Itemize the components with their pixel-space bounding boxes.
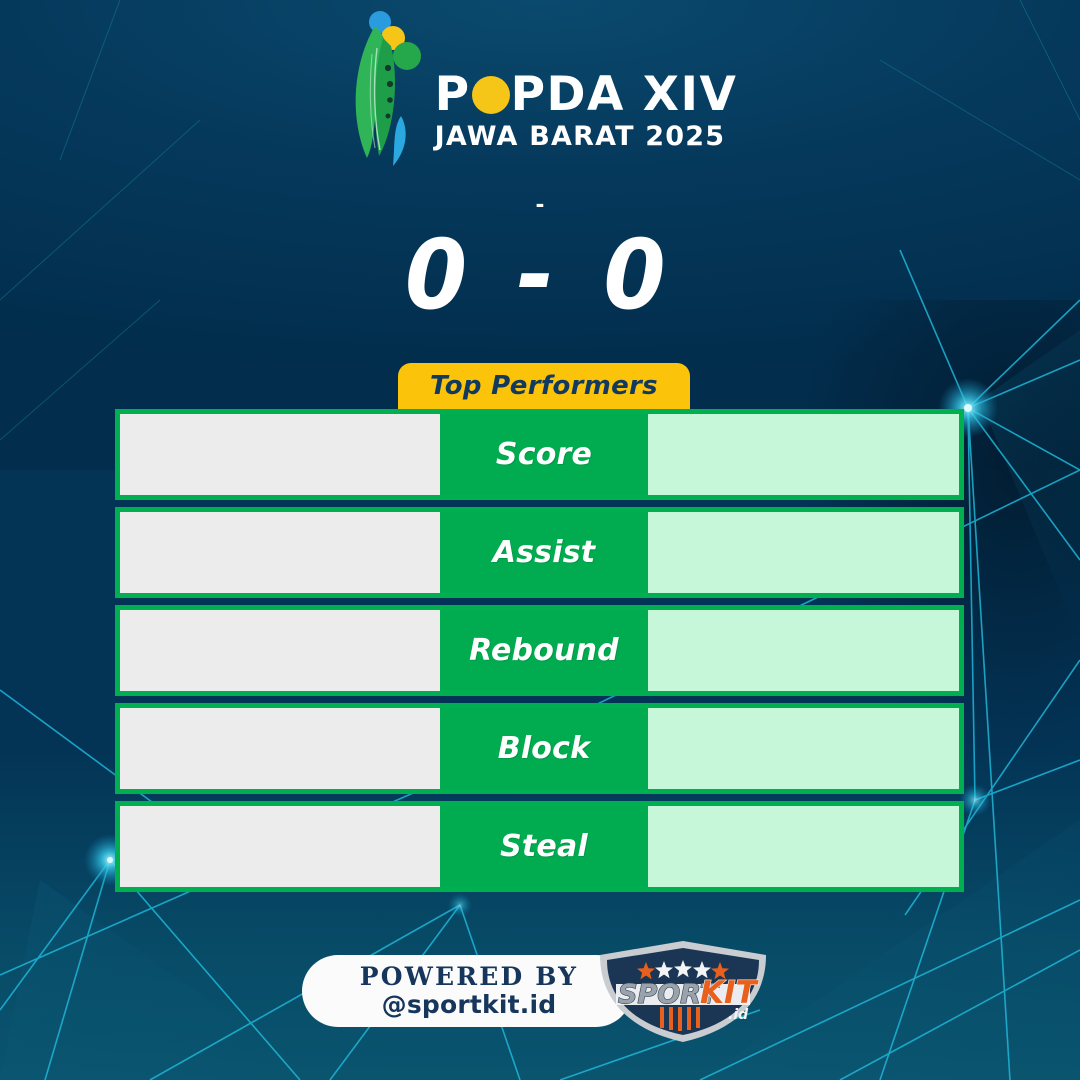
table-row[interactable]: Steal bbox=[115, 801, 964, 892]
stat-label: Assist bbox=[493, 535, 596, 570]
match-separator-label: - bbox=[0, 190, 1080, 216]
powered-by-label: POWERED BY bbox=[360, 963, 578, 990]
stat-label-cell: Score bbox=[444, 414, 644, 495]
sportkit-logo-id: .id bbox=[728, 1007, 749, 1023]
sportkit-logo-kit: KIT bbox=[700, 975, 760, 1011]
logo-swoosh-blue bbox=[393, 116, 406, 166]
powered-by-pill: POWERED BY @sportkit.id bbox=[302, 955, 632, 1027]
logo-dot-green bbox=[393, 42, 421, 70]
popda-title-o-circle bbox=[472, 76, 510, 114]
sportkit-handle: @sportkit.id bbox=[382, 991, 557, 1020]
stat-label: Score bbox=[496, 437, 592, 472]
table-row[interactable]: Block bbox=[115, 703, 964, 794]
popda-title: PPDA XIV bbox=[435, 72, 738, 118]
popda-title-prefix: P bbox=[435, 72, 471, 118]
header: PPDA XIV JAWA BARAT 2025 bbox=[0, 8, 1080, 176]
table-row[interactable]: Rebound bbox=[115, 605, 964, 696]
away-player-cell[interactable] bbox=[644, 806, 959, 887]
stat-label: Rebound bbox=[469, 633, 619, 668]
stat-label: Steal bbox=[500, 829, 588, 864]
popda-wordmark: PPDA XIV JAWA BARAT 2025 bbox=[435, 32, 738, 152]
popda-subtitle: JAWA BARAT 2025 bbox=[435, 121, 726, 152]
top-performers-banner: Top Performers bbox=[398, 363, 690, 409]
sportkit-shield-logo[interactable]: SPORT KIT .id bbox=[588, 939, 778, 1044]
top-performers-table: Score Assist Rebound Block bbox=[115, 409, 964, 892]
footer: POWERED BY @sportkit.id SPORT KIT .i bbox=[0, 952, 1080, 1030]
stat-label: Block bbox=[498, 731, 591, 766]
home-player-cell[interactable] bbox=[120, 414, 444, 495]
home-player-cell[interactable] bbox=[120, 512, 444, 593]
home-player-cell[interactable] bbox=[120, 806, 444, 887]
popda-title-suffix: PDA XIV bbox=[511, 72, 738, 118]
top-performers-banner-label: Top Performers bbox=[430, 371, 658, 401]
away-player-cell[interactable] bbox=[644, 414, 959, 495]
stat-label-cell: Assist bbox=[444, 512, 644, 593]
away-player-cell[interactable] bbox=[644, 512, 959, 593]
popda-leaf-mark bbox=[343, 8, 429, 176]
home-player-cell[interactable] bbox=[120, 708, 444, 789]
scoreboard-score: 0 - 0 bbox=[38, 225, 1042, 326]
table-row[interactable]: Score bbox=[115, 409, 964, 500]
stat-label-cell: Block bbox=[444, 708, 644, 789]
popda-xiv-logo: PPDA XIV JAWA BARAT 2025 bbox=[343, 8, 738, 176]
away-player-cell[interactable] bbox=[644, 610, 959, 691]
home-player-cell[interactable] bbox=[120, 610, 444, 691]
stat-label-cell: Rebound bbox=[444, 610, 644, 691]
table-row[interactable]: Assist bbox=[115, 507, 964, 598]
stat-label-cell: Steal bbox=[444, 806, 644, 887]
away-player-cell[interactable] bbox=[644, 708, 959, 789]
